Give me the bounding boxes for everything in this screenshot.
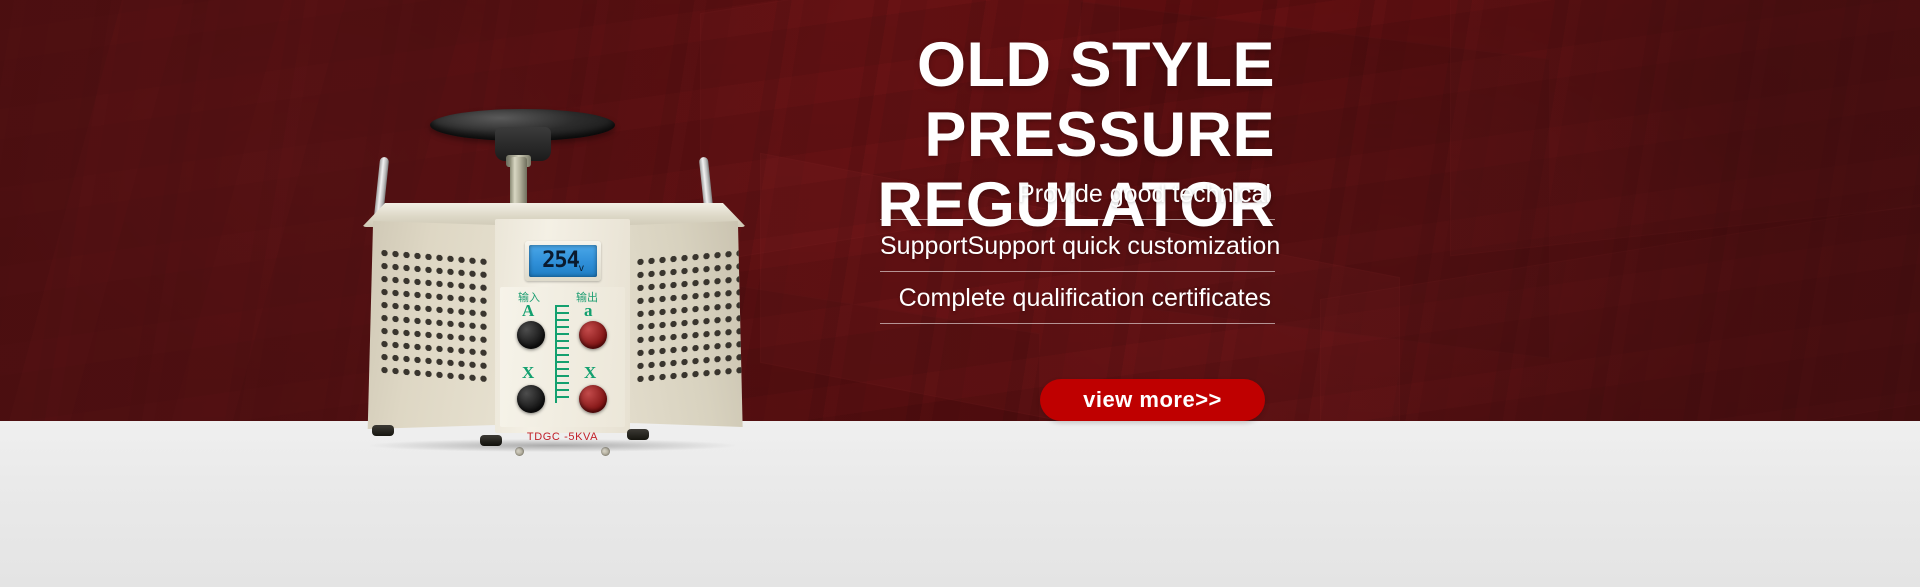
voltage-value: 254 <box>542 250 579 272</box>
terminal-post-output-a <box>579 321 607 349</box>
terminal-post-input-x <box>517 385 545 413</box>
feature-item-2: SupportSupport quick customization <box>880 234 1275 272</box>
voltage-unit: v <box>579 263 584 274</box>
terminal-post-output-x <box>579 385 607 413</box>
hero-banner: 254 v 输入 输出 A a X X TDGC -5KVA <box>0 0 1920 587</box>
lower-light-band <box>0 421 1920 587</box>
terminal-label-x-left: X <box>522 363 534 383</box>
feature-item-3: Complete qualification certificates <box>880 286 1275 324</box>
voltage-lcd-screen: 254 v <box>529 245 597 277</box>
terminal-label-a-lower: a <box>584 301 593 321</box>
terminal-panel: 输入 输出 A a X X <box>500 287 625 427</box>
product-shadow <box>370 439 735 452</box>
coil-diagram-icon <box>555 305 569 403</box>
feature-list: Provide good technical SupportSupport qu… <box>880 182 1275 324</box>
ventilation-holes <box>379 246 491 388</box>
housing-right-face <box>627 221 745 427</box>
housing-front-face: 254 v 输入 输出 A a X X TDGC -5KVA <box>495 219 630 433</box>
feature-item-1: Provide good technical <box>880 182 1275 220</box>
view-more-button[interactable]: view more>> <box>1040 379 1265 421</box>
headline-line-1: OLD STYLE PRESSURE <box>917 30 1275 170</box>
rubber-foot <box>372 425 394 436</box>
voltage-display-bezel: 254 v <box>525 241 601 281</box>
terminal-label-a-upper: A <box>522 301 534 321</box>
terminal-label-x-right: X <box>584 363 596 383</box>
ventilation-holes <box>635 246 747 388</box>
terminal-post-input-a <box>517 321 545 349</box>
housing-left-face <box>365 221 500 429</box>
